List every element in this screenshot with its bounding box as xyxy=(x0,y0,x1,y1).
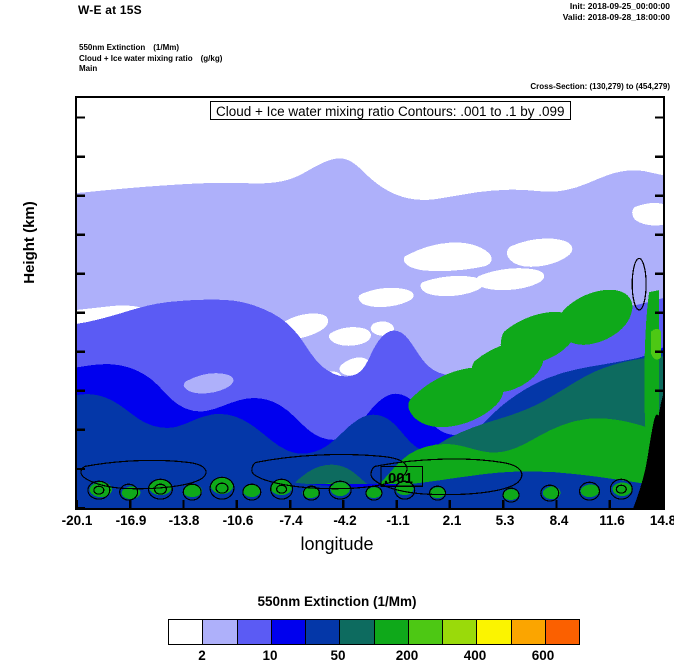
colorbar-tick-5: 600 xyxy=(513,648,573,663)
extinction-field: .001 xyxy=(77,98,663,508)
domain-label: Main xyxy=(79,64,222,75)
variable-name-extinction: 550nm Extinction xyxy=(79,43,145,52)
inline-contour-label: .001 xyxy=(384,471,413,487)
colorbar-swatch-10 xyxy=(512,620,546,644)
plot-area: .001 Cloud + Ice water mixing ratio Cont… xyxy=(75,96,665,510)
colorbar-swatch-4 xyxy=(306,620,340,644)
colorbar-swatch-2 xyxy=(238,620,272,644)
x-axis-title: longitude xyxy=(0,534,674,555)
variable-unit-extinction: (1/Mm) xyxy=(145,43,179,52)
variable-row-mixing-ratio: Cloud + Ice water mixing ratio(g/kg) xyxy=(79,54,222,65)
variable-legend: 550nm Extinction(1/Mm) Cloud + Ice water… xyxy=(79,43,222,75)
colorbar-swatch-0 xyxy=(169,620,203,644)
cross-section-coordinates: Cross-Section: (130,279) to (454,279) xyxy=(530,82,670,91)
colorbar-swatch-3 xyxy=(272,620,306,644)
contour-banner: Cloud + Ice water mixing ratio Contours:… xyxy=(210,101,571,120)
y-axis-title: Height (km) xyxy=(21,201,38,284)
valid-time: Valid: 2018-09-28_18:00:00 xyxy=(563,12,670,23)
run-timestamps: Init: 2018-09-25_00:00:00 Valid: 2018-09… xyxy=(563,1,670,23)
variable-row-extinction: 550nm Extinction(1/Mm) xyxy=(79,43,222,54)
colorbar xyxy=(168,619,580,645)
variable-name-mixing-ratio: Cloud + Ice water mixing ratio xyxy=(79,54,193,63)
colorbar-swatch-1 xyxy=(203,620,237,644)
colorbar-swatch-11 xyxy=(546,620,579,644)
x-tick-11: 14.8 xyxy=(628,513,674,528)
variable-unit-mixing-ratio: (g/kg) xyxy=(193,54,223,63)
init-time: Init: 2018-09-25_00:00:00 xyxy=(563,1,670,12)
colorbar-swatch-8 xyxy=(443,620,477,644)
colorbar-tick-3: 200 xyxy=(377,648,437,663)
colorbar-swatch-5 xyxy=(340,620,374,644)
colorbar-tick-2: 50 xyxy=(308,648,368,663)
colorbar-tick-1: 10 xyxy=(240,648,300,663)
colorbar-tick-4: 400 xyxy=(445,648,505,663)
page-title: W-E at 15S xyxy=(78,3,142,17)
colorbar-swatch-7 xyxy=(409,620,443,644)
colorbar-title: 550nm Extinction (1/Mm) xyxy=(0,594,674,609)
colorbar-tick-0: 2 xyxy=(172,648,232,663)
colorbar-swatch-9 xyxy=(477,620,511,644)
colorbar-swatch-6 xyxy=(375,620,409,644)
